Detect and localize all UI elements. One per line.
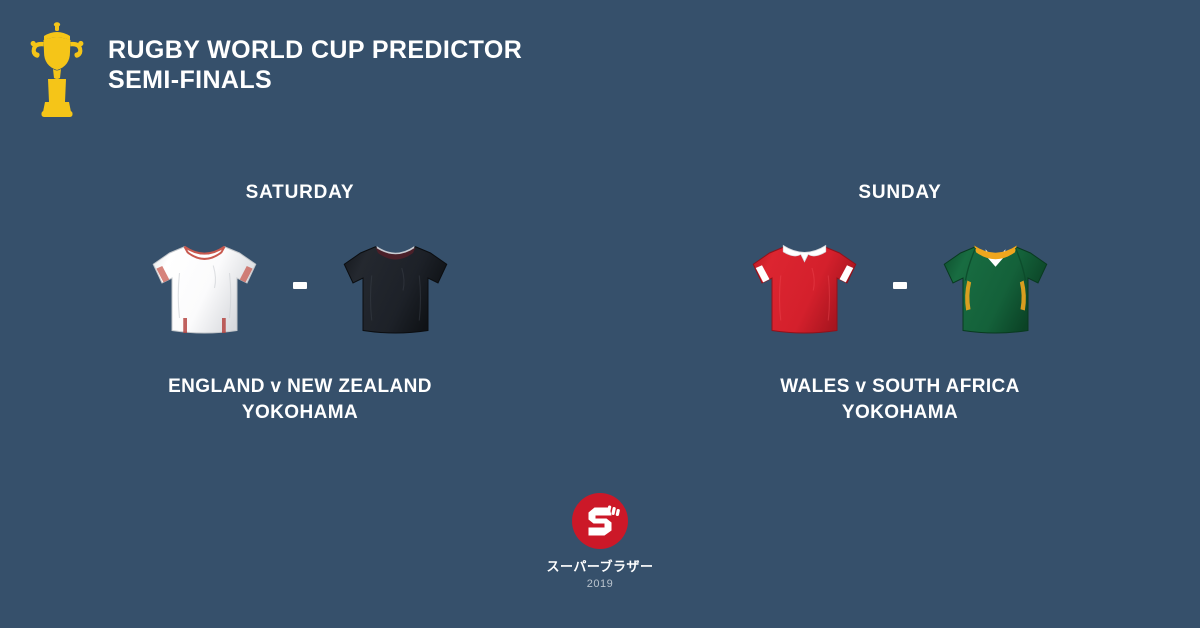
- jersey-icon-new-zealand: [333, 223, 458, 348]
- brand-name: スーパーブラザー: [546, 556, 653, 575]
- match-teams-label: WALES v SOUTH AFRICA: [780, 374, 1020, 400]
- matches-container: SATURDAY: [0, 182, 1200, 426]
- kit-row: [742, 220, 1058, 350]
- super-brother-logo-icon[interactable]: [571, 492, 629, 550]
- page-header: RUGBY WORLD CUP PREDICTOR SEMI-FINALS: [26, 22, 522, 122]
- jersey-icon-england: [142, 223, 267, 348]
- page-title: RUGBY WORLD CUP PREDICTOR: [108, 35, 522, 65]
- match-card-sunday[interactable]: SUNDAY: [600, 182, 1200, 426]
- match-teams-label: ENGLAND v NEW ZEALAND: [168, 374, 432, 400]
- jersey-icon-south-africa: [933, 223, 1058, 348]
- kit-row: [142, 220, 458, 350]
- match-day-label: SUNDAY: [858, 182, 941, 204]
- match-venue-label: YOKOHAMA: [842, 400, 958, 426]
- match-card-saturday[interactable]: SATURDAY: [0, 182, 600, 426]
- jersey-icon-wales: [742, 223, 867, 348]
- trophy-icon: [26, 22, 88, 122]
- match-day-label: SATURDAY: [246, 182, 355, 204]
- match-venue-label: YOKOHAMA: [242, 400, 358, 426]
- page-footer: スーパーブラザー 2019: [0, 492, 1200, 590]
- score-separator: [293, 282, 307, 289]
- page-subtitle: SEMI-FINALS: [108, 65, 522, 95]
- header-titles: RUGBY WORLD CUP PREDICTOR SEMI-FINALS: [108, 22, 522, 95]
- brand-year: 2019: [587, 578, 613, 590]
- score-separator: [893, 282, 907, 289]
